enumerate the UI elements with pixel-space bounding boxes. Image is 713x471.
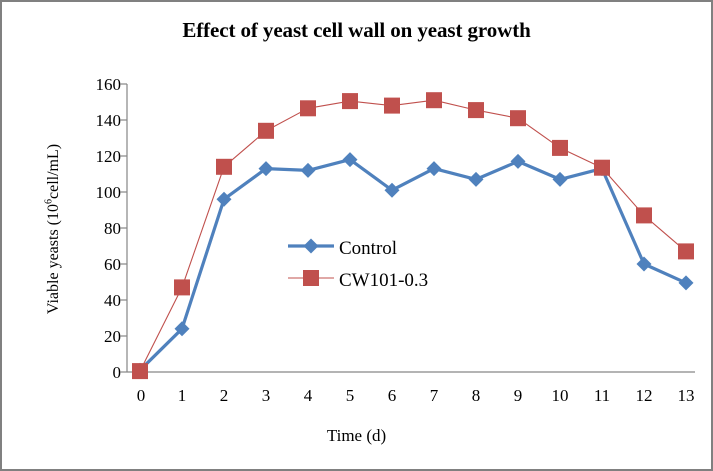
data-point-cw101-0-3-day-11 <box>594 160 610 176</box>
data-point-cw101-0-3-day-13 <box>678 243 694 259</box>
legend-swatches <box>288 239 334 287</box>
series-markers <box>132 92 694 379</box>
data-point-cw101-0-3-day-0 <box>132 363 148 379</box>
series-line-control <box>140 160 686 371</box>
data-point-control-day-13 <box>679 275 694 290</box>
series-line-cw101-0-3 <box>140 100 686 371</box>
data-point-cw101-0-3-day-2 <box>216 159 232 175</box>
data-point-control-day-8 <box>469 172 484 187</box>
data-point-control-day-12 <box>637 257 652 272</box>
data-point-cw101-0-3-day-12 <box>636 207 652 223</box>
data-point-cw101-0-3-day-8 <box>468 102 484 118</box>
chart-screenshot: Effect of yeast cell wall on yeast growt… <box>0 0 713 471</box>
data-point-cw101-0-3-day-6 <box>384 98 400 114</box>
data-point-cw101-0-3-day-7 <box>426 92 442 108</box>
data-point-cw101-0-3-day-5 <box>342 93 358 109</box>
series-lines <box>140 100 686 371</box>
data-point-control-day-4 <box>301 163 316 178</box>
legend-marker-cw101-0-3 <box>303 270 319 286</box>
chart-canvas: Effect of yeast cell wall on yeast growt… <box>2 2 711 469</box>
data-point-cw101-0-3-day-10 <box>552 140 568 156</box>
data-point-cw101-0-3-day-1 <box>174 279 190 295</box>
data-point-cw101-0-3-day-4 <box>300 100 316 116</box>
y-axis-ticks <box>120 84 127 372</box>
data-point-control-day-7 <box>427 161 442 176</box>
plot-svg <box>2 2 711 469</box>
legend-marker-control <box>304 239 319 254</box>
data-point-control-day-10 <box>553 172 568 187</box>
data-point-cw101-0-3-day-9 <box>510 110 526 126</box>
data-point-cw101-0-3-day-3 <box>258 123 274 139</box>
data-point-control-day-9 <box>511 154 526 169</box>
